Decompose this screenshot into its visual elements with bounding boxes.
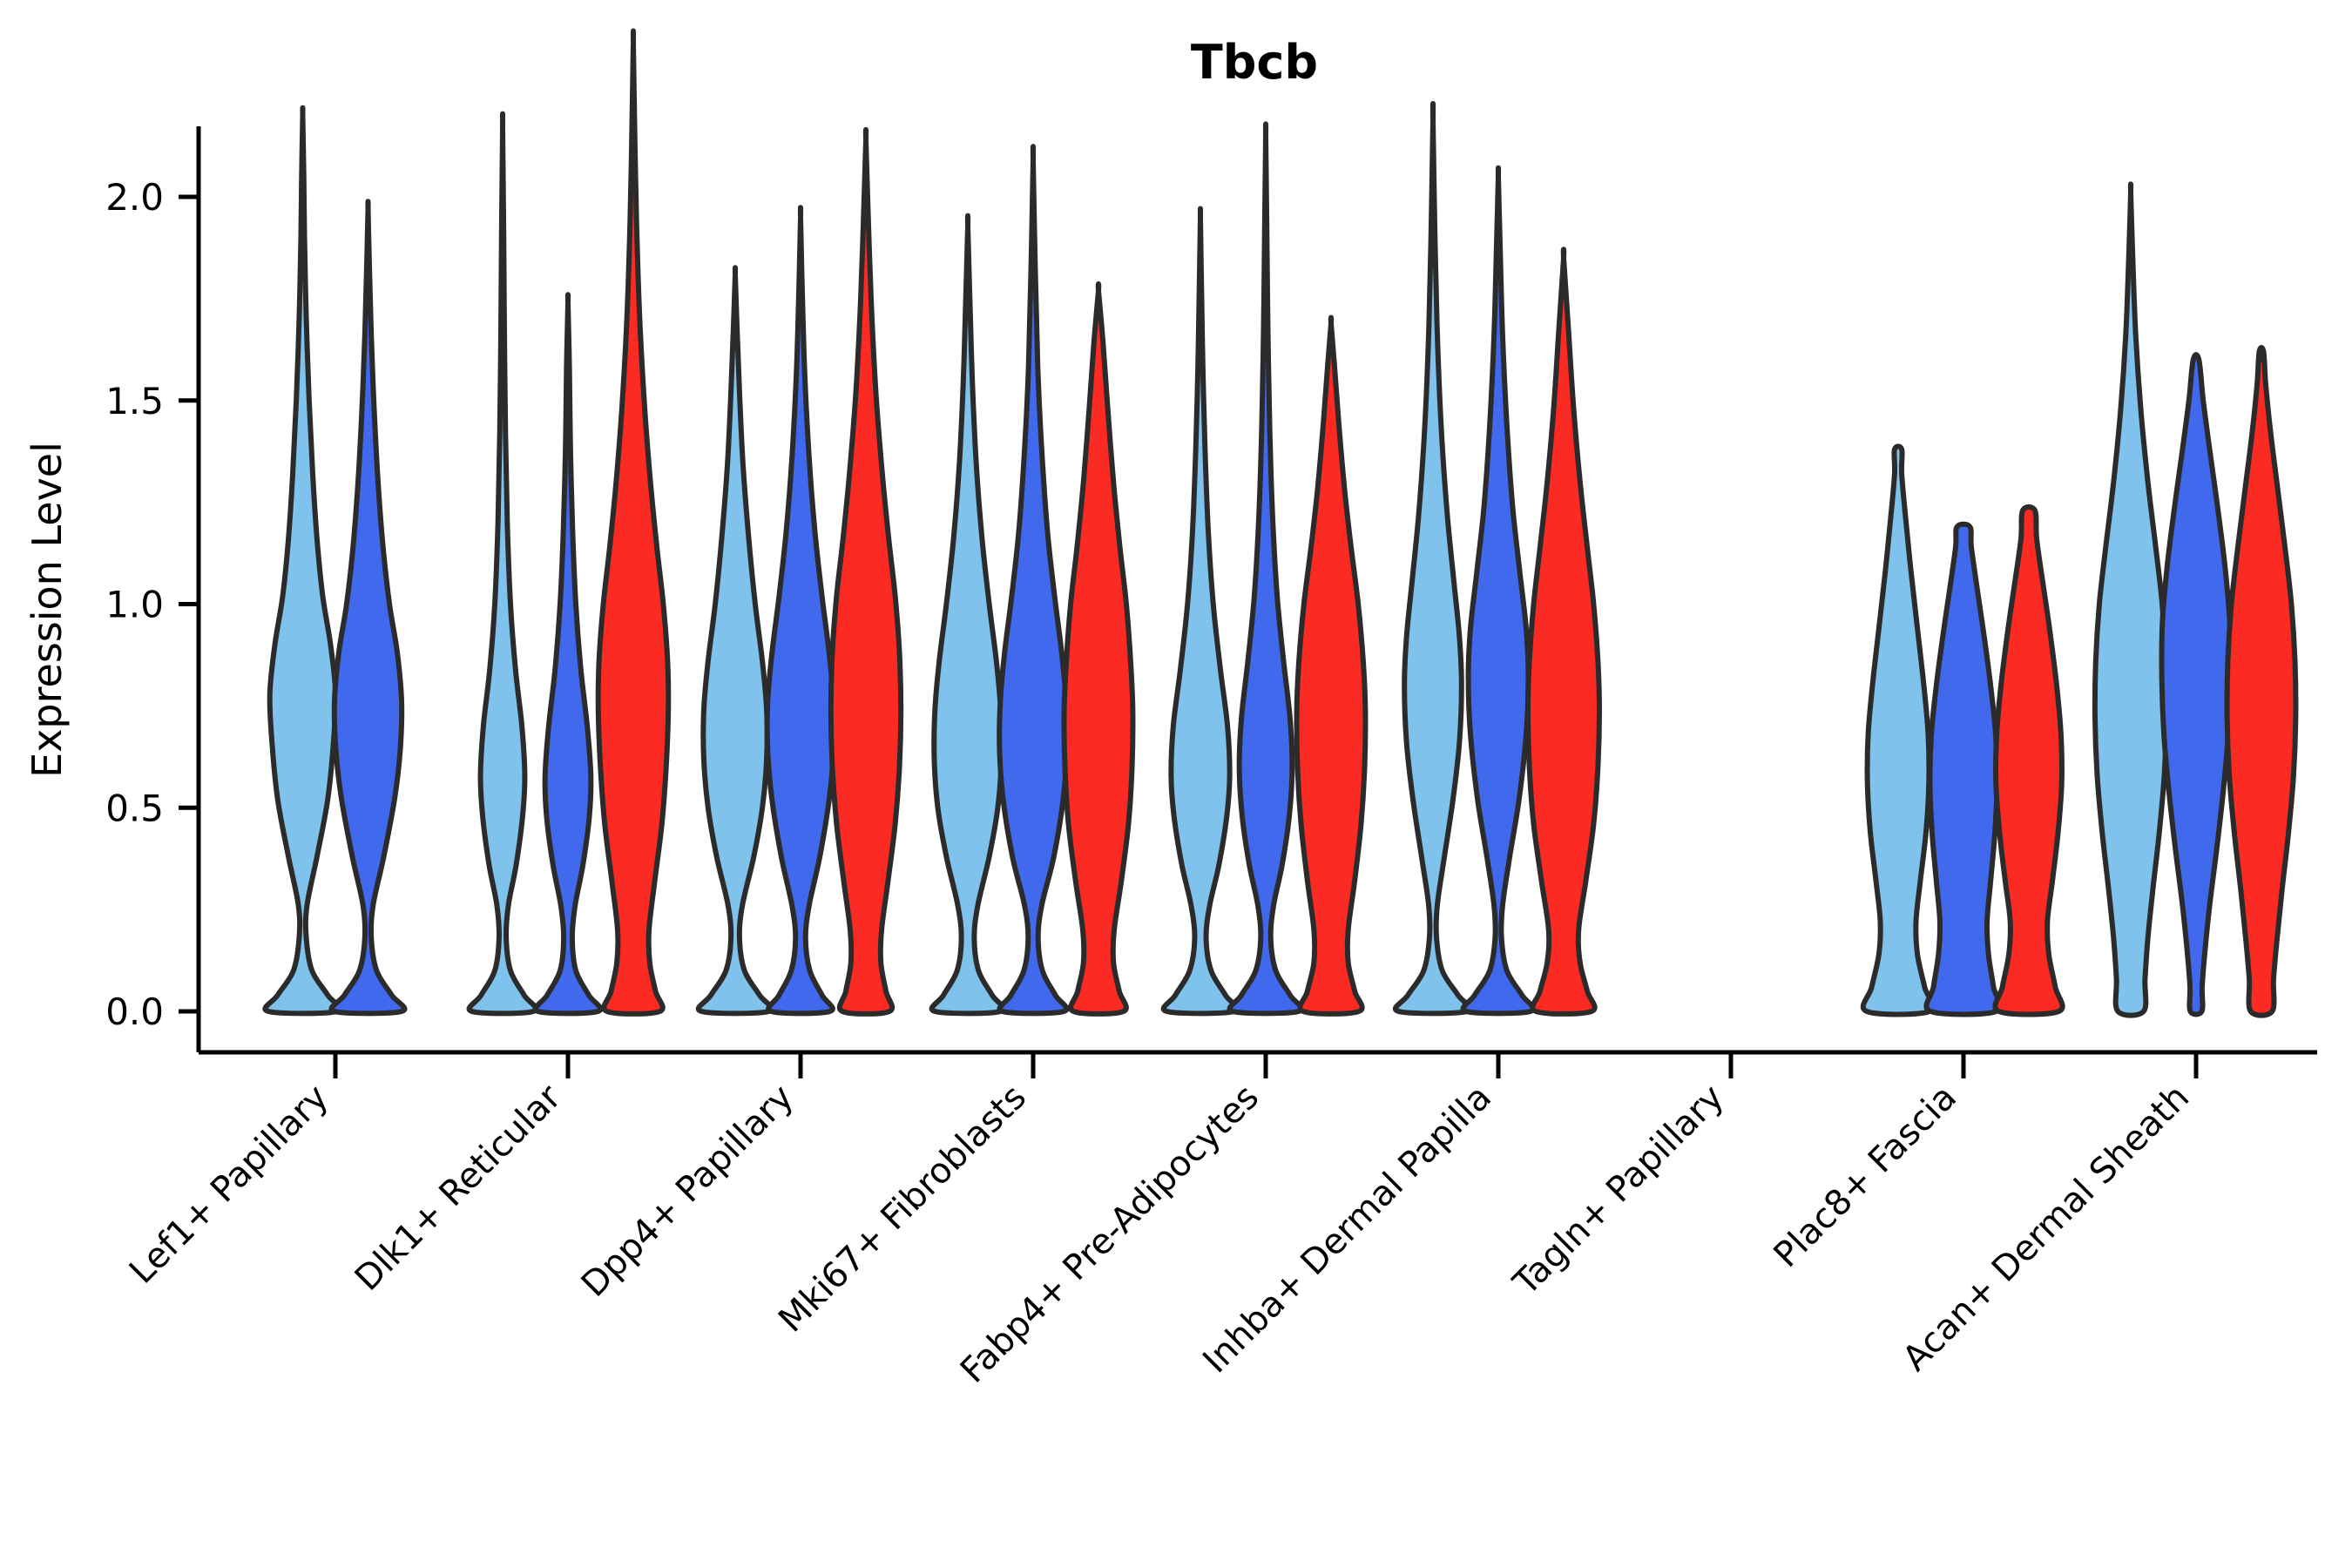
- violin-plot-canvas: Tbcb Expression Level 0.00.51.01.52.0 Le…: [0, 0, 2352, 1568]
- violin-shape: [932, 216, 1004, 1014]
- y-tick-label: 1.5: [105, 380, 164, 422]
- violin-shape: [999, 146, 1067, 1013]
- violin-shape: [1396, 104, 1470, 1013]
- violin-shape: [1297, 317, 1366, 1013]
- x-tick-label: Mki67+ Fibroblasts: [771, 1078, 1034, 1341]
- violin-shape: [1064, 284, 1133, 1014]
- violin-shape: [470, 114, 537, 1014]
- violin-shape: [265, 108, 340, 1014]
- violin-shape: [1863, 446, 1933, 1014]
- violin-shape: [1926, 524, 2000, 1015]
- violin-shape: [2095, 184, 2166, 1015]
- y-tick-label: 1.0: [105, 584, 164, 626]
- x-tick-label: Plac8+ Fascia: [1767, 1078, 1965, 1276]
- x-tick-label: Tagln+ Papillary: [1505, 1078, 1732, 1304]
- x-axis-ticks: [335, 1052, 2196, 1078]
- y-axis-ticks: 0.00.51.01.52.0: [105, 176, 199, 1033]
- violin-shape: [699, 267, 772, 1013]
- violin-shape: [1463, 168, 1534, 1014]
- x-axis-tick-labels: Lef1+ PapillaryDlk1+ ReticularDpp4+ Papi…: [122, 1077, 2197, 1391]
- y-tick-label: 0.0: [105, 990, 164, 1033]
- y-tick-label: 0.5: [105, 787, 164, 829]
- x-tick-label: Dlk1+ Reticular: [348, 1077, 570, 1299]
- violin-shape: [598, 30, 669, 1013]
- violin-shape: [767, 207, 835, 1013]
- violin-shape: [536, 294, 601, 1013]
- violin-shape: [1995, 507, 2062, 1015]
- violin-shape: [331, 201, 404, 1013]
- violin-series-group: [265, 30, 2295, 1015]
- violin-shape: [2227, 348, 2296, 1016]
- violin-shape: [1230, 124, 1302, 1013]
- y-axis-label: Expression Level: [24, 442, 71, 778]
- violin-shape: [1528, 249, 1599, 1014]
- x-tick-label: Dpp4+ Papillary: [574, 1078, 801, 1305]
- page-title: Tbcb: [1191, 35, 1318, 90]
- y-tick-label: 2.0: [105, 176, 164, 219]
- violin-shape: [1164, 208, 1238, 1013]
- x-tick-label: Lef1+ Papillary: [122, 1078, 336, 1292]
- violin-shape: [831, 130, 901, 1014]
- violin-shape: [2161, 355, 2230, 1014]
- violin-plot-figure: Tbcb Expression Level 0.00.51.01.52.0 Le…: [0, 0, 2352, 1568]
